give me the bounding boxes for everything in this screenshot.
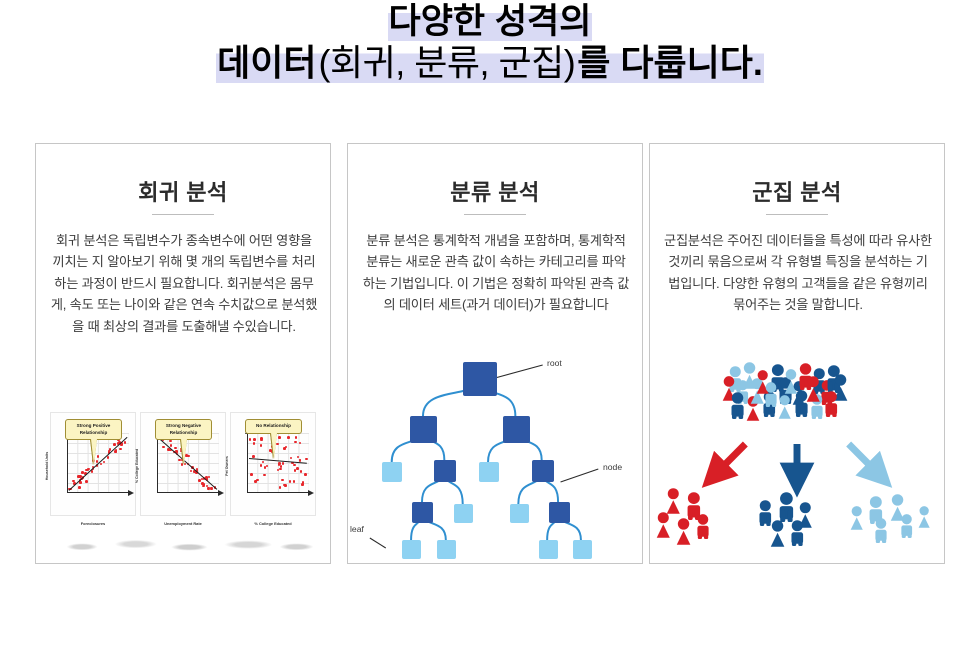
scatter-point <box>264 466 267 469</box>
scatter-panel-0-xaxis <box>67 492 129 493</box>
scatter-row: Household Units Foreclosures Strong Posi… <box>36 406 330 524</box>
scatter-panel-1: % College Educated Unemployment Rate Str… <box>140 412 226 516</box>
ground-texture <box>50 536 318 554</box>
scatter-point <box>203 483 206 486</box>
scatter-panel-2-xlabel: % College Educated <box>231 521 315 526</box>
person-icon <box>900 514 913 538</box>
title-line-2: 데이터(회귀, 분류, 군집)를 다룹니다. <box>0 45 980 81</box>
person-icon <box>778 492 795 522</box>
scatter-point <box>280 465 283 468</box>
card-clustering-divider <box>766 214 828 215</box>
tree-label-pointer <box>561 469 599 482</box>
scatter-point <box>97 455 100 458</box>
person-icon <box>824 391 839 417</box>
scatter-panel-0-ylabel: Household Units <box>45 452 49 481</box>
callout-tail-icon <box>91 439 97 465</box>
card-classification-divider <box>464 214 526 215</box>
person-icon <box>730 392 745 419</box>
scatter-panel-1-plot <box>157 433 219 493</box>
title-line-2-part-b: (회귀, 분류, 군집) <box>318 42 577 83</box>
tree-node <box>412 502 433 523</box>
scatter-panel-1-ylabel: % College Educated <box>135 449 139 483</box>
card-classification: 분류 분석 분류 분석은 통계학적 개념을 포함하며, 통계학적 분류는 새로운… <box>347 143 643 564</box>
scatter-point <box>85 480 88 483</box>
scatter-panel-2-xaxis <box>247 492 309 493</box>
title-line-1-text: 다양한 성격의 <box>388 2 593 41</box>
card-clustering: 군집 분석 군집분석은 주어진 데이터들을 특성에 따라 유사한 것끼리 묶음으… <box>649 143 945 564</box>
scatter-point <box>78 486 81 489</box>
tree-leaf <box>382 462 402 482</box>
scatter-panel-2-callout: No Relationship <box>245 419 302 434</box>
person-icon <box>764 382 778 407</box>
tree-leaf <box>454 504 473 523</box>
cluster-canvas <box>650 358 944 558</box>
title-line-2-part-c: 를 다룹니다. <box>576 42 764 83</box>
scatter-point <box>279 468 282 471</box>
tree-leaf <box>479 462 499 482</box>
regression-scatter-figure: Household Units Foreclosures Strong Posi… <box>36 406 330 556</box>
tree-node <box>410 416 437 443</box>
scatter-point <box>300 470 303 473</box>
scatter-panel-0-plot <box>67 433 129 493</box>
title-line-1: 다양한 성격의 <box>0 4 980 39</box>
scatter-point <box>282 462 285 465</box>
x-axis-arrow-icon <box>128 490 134 496</box>
scatter-panel-1-yaxis <box>157 433 158 493</box>
scatter-panel-2: Pet Owners % College Educated No Relatio… <box>230 412 316 516</box>
scatter-point <box>119 448 122 451</box>
title-line-2-part-a: 데이터 <box>216 42 317 83</box>
callout-tail-icon <box>271 433 277 459</box>
tree-node <box>532 460 554 482</box>
scatter-panel-0-yaxis <box>67 433 68 493</box>
scatter-point <box>281 479 284 482</box>
scatter-point <box>253 438 256 441</box>
scatter-point <box>296 467 299 470</box>
tree-node <box>503 416 530 443</box>
scatter-panel-1-callout-text: Strong Negative Relationship <box>166 423 201 435</box>
tree-leaf <box>573 540 592 559</box>
tree-leaf <box>539 540 558 559</box>
person-icon <box>656 512 671 538</box>
tree-leaf <box>437 540 456 559</box>
cluster-people-figure <box>650 358 944 558</box>
scatter-panel-2-callout-text: No Relationship <box>256 423 291 428</box>
tree-label-pointer <box>495 365 543 378</box>
scatter-point <box>81 471 84 474</box>
scatter-point <box>187 455 190 458</box>
scatter-panel-2-ylabel: Pet Owners <box>225 456 229 476</box>
scatter-point <box>278 436 281 439</box>
person-icon <box>790 520 805 546</box>
card-regression-body: 회귀 분석은 독립변수가 종속변수에 어떤 영향을 끼치는 지 알아보기 위해 … <box>50 230 318 337</box>
scatter-panel-0: Household Units Foreclosures Strong Posi… <box>50 412 136 516</box>
slide-root: 다양한 성격의 데이터(회귀, 분류, 군집)를 다룹니다. 회귀 분석 회귀 … <box>0 0 980 661</box>
tree-label-node: node <box>603 462 622 472</box>
scatter-point <box>162 446 165 449</box>
x-axis-arrow-icon <box>308 490 314 496</box>
callout-tail-icon <box>181 439 187 465</box>
tree-leaf <box>402 540 421 559</box>
person-icon <box>676 518 691 545</box>
scatter-point <box>113 443 116 446</box>
x-axis-arrow-icon <box>218 490 224 496</box>
scatter-panel-1-callout: Strong Negative Relationship <box>155 419 212 440</box>
person-icon <box>874 518 888 543</box>
tree-label-leaf: leaf <box>350 524 364 534</box>
card-regression-divider <box>152 214 214 215</box>
card-regression: 회귀 분석 회귀 분석은 독립변수가 종속변수에 어떤 영향을 끼치는 지 알아… <box>35 143 331 564</box>
scatter-panel-2-yaxis <box>247 433 248 493</box>
card-container: 회귀 분석 회귀 분석은 독립변수가 종속변수에 어떤 영향을 끼치는 지 알아… <box>0 143 980 565</box>
slide-title: 다양한 성격의 데이터(회귀, 분류, 군집)를 다룹니다. <box>0 4 980 81</box>
scatter-point <box>305 458 308 461</box>
person-icon <box>918 506 930 528</box>
card-clustering-title: 군집 분석 <box>650 175 944 207</box>
scatter-point <box>250 473 253 476</box>
card-regression-title: 회귀 분석 <box>36 175 330 207</box>
scatter-point <box>287 436 290 439</box>
person-icon <box>696 514 710 539</box>
person-icon <box>770 520 785 547</box>
scatter-panel-0-xlabel: Foreclosures <box>51 521 135 526</box>
card-classification-title: 분류 분석 <box>348 175 642 207</box>
scatter-point <box>293 480 296 483</box>
scatter-point <box>302 481 305 484</box>
tree-node <box>434 460 456 482</box>
scatter-point <box>289 480 292 483</box>
card-clustering-body: 군집분석은 주어진 데이터들을 특성에 따라 유사한 것끼리 묶음으로써 각 유… <box>664 230 932 316</box>
tree-node <box>549 502 570 523</box>
scatter-panel-0-callout-text: Strong Positive Relationship <box>77 423 111 435</box>
tree-label-pointer <box>370 538 386 548</box>
person-icon <box>778 395 791 419</box>
card-classification-body: 분류 분석은 통계학적 개념을 포함하며, 통계학적 분류는 새로운 관측 값이… <box>362 230 630 316</box>
tree-node <box>463 362 497 396</box>
scatter-point <box>170 444 173 447</box>
person-icon <box>666 488 681 514</box>
scatter-panel-1-xlabel: Unemployment Rate <box>141 521 225 526</box>
tree-label-root: root <box>547 358 562 368</box>
decision-tree-canvas: root node leaf <box>348 352 642 558</box>
person-icon <box>806 376 821 402</box>
scatter-point <box>304 473 307 476</box>
scatter-panel-2-plot <box>247 433 309 493</box>
person-icon <box>850 506 863 530</box>
decision-tree-figure: root node leaf <box>348 352 642 558</box>
scatter-panel-1-xaxis <box>157 492 219 493</box>
scatter-panel-0-callout: Strong Positive Relationship <box>65 419 122 440</box>
cluster-arrow <box>849 444 879 474</box>
scatter-point <box>294 441 297 444</box>
cluster-arrow <box>716 444 746 474</box>
tree-leaf <box>510 504 529 523</box>
